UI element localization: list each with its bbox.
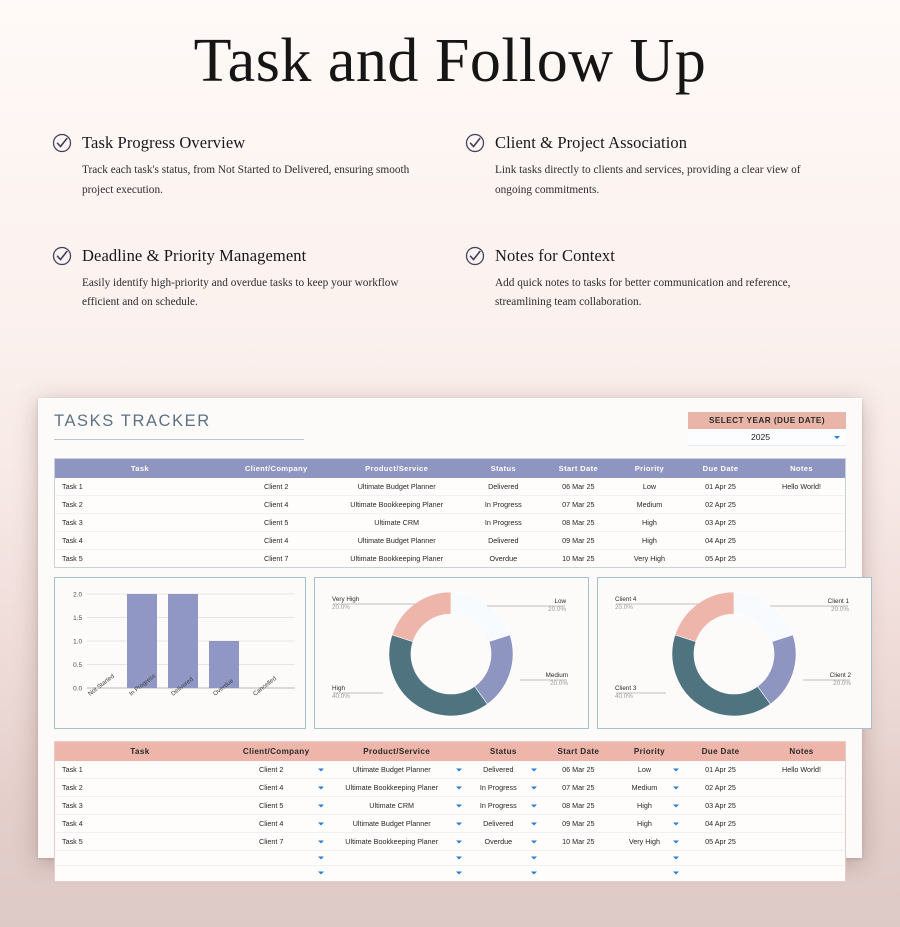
cell-product-dropdown[interactable]: Ultimate Bookkeeping Planer <box>328 779 466 797</box>
cell-due-date[interactable]: 05 Apr 25 <box>683 833 758 851</box>
cell-notes[interactable] <box>758 797 845 815</box>
cell-task: Task 1 <box>55 478 225 496</box>
y-tick-label: 2.0 <box>73 591 82 598</box>
chevron-down-icon[interactable] <box>530 819 539 828</box>
cell-priority-dropdown[interactable]: Medium <box>616 779 683 797</box>
cell-status: Overdue <box>466 550 541 568</box>
cell-client-dropdown[interactable]: Client 4 <box>225 779 328 797</box>
chevron-down-icon[interactable] <box>455 765 464 774</box>
cell-product: Ultimate Budget Planner <box>328 532 466 550</box>
cell-client-dropdown[interactable]: Client 4 <box>225 815 328 833</box>
cell-notes: Hello World! <box>758 478 845 496</box>
cell-priority: High <box>616 514 683 532</box>
chevron-down-icon[interactable] <box>530 801 539 810</box>
feature-deadline-priority-management: Deadline & Priority Management Easily id… <box>52 246 435 313</box>
cell-client: Client 7 <box>225 550 328 568</box>
column-header-client: Client/Company <box>225 459 328 478</box>
column-header-priority: Priority <box>616 459 683 478</box>
cell-priority-dropdown[interactable]: High <box>616 797 683 815</box>
column-header-task: Task <box>55 742 225 761</box>
cell-notes <box>758 496 845 514</box>
cell-due-date: 05 Apr 25 <box>683 550 758 568</box>
y-tick-label: 1.5 <box>73 615 82 622</box>
cell-client: Client 4 <box>225 532 328 550</box>
cell-product-value: Ultimate CRM <box>369 801 414 810</box>
cell-client-dropdown[interactable] <box>225 866 328 881</box>
column-header-status: Status <box>466 742 541 761</box>
chevron-down-icon[interactable] <box>833 433 842 442</box>
feature-notes-for-context: Notes for Context Add quick notes to tas… <box>465 246 848 313</box>
cell-task: Task 5 <box>55 550 225 568</box>
chevron-down-icon[interactable] <box>455 783 464 792</box>
column-header-start-date: Start Date <box>541 459 616 478</box>
cell-task[interactable]: Task 5 <box>55 833 225 851</box>
cell-notes[interactable] <box>758 815 845 833</box>
chevron-down-icon[interactable] <box>672 837 681 846</box>
chevron-down-icon[interactable] <box>530 869 539 878</box>
bar-delivered <box>168 594 198 688</box>
cell-task[interactable] <box>55 851 225 866</box>
cell-priority: Very High <box>616 550 683 568</box>
cell-start-date[interactable]: 08 Mar 25 <box>541 797 616 815</box>
cell-start-date[interactable] <box>541 851 616 866</box>
chevron-down-icon[interactable] <box>317 819 326 828</box>
feature-title: Deadline & Priority Management <box>82 246 306 266</box>
slice-client-1 <box>734 592 793 642</box>
cell-status: Delivered <box>466 478 541 496</box>
chevron-down-icon[interactable] <box>455 869 464 878</box>
cell-task[interactable]: Task 1 <box>55 761 225 779</box>
donut-value-client-3: 40.0% <box>615 693 633 700</box>
cell-notes <box>758 514 845 532</box>
donut-label-medium: Medium <box>546 672 568 679</box>
cell-client-dropdown[interactable]: Client 7 <box>225 833 328 851</box>
cell-priority-dropdown[interactable]: Low <box>616 761 683 779</box>
check-circle-icon <box>52 246 72 266</box>
cell-due-date: 04 Apr 25 <box>683 532 758 550</box>
donut-value-low: 20.0% <box>548 606 566 613</box>
slice-client-3 <box>672 635 770 716</box>
check-circle-icon <box>465 246 485 266</box>
cell-priority-value: Low <box>638 765 651 774</box>
chevron-down-icon[interactable] <box>455 854 464 863</box>
cell-priority-value: High <box>637 819 652 828</box>
column-header-status: Status <box>466 459 541 478</box>
chevron-down-icon[interactable] <box>317 801 326 810</box>
cell-client-value: Client 2 <box>259 765 283 774</box>
table-row-empty[interactable] <box>55 851 845 866</box>
chevron-down-icon[interactable] <box>672 765 681 774</box>
cell-status-dropdown[interactable]: Delivered <box>466 815 541 833</box>
cell-notes[interactable]: Hello World! <box>758 761 845 779</box>
cell-client-value: Client 4 <box>259 783 283 792</box>
cell-due-date: 02 Apr 25 <box>683 496 758 514</box>
cell-task[interactable]: Task 3 <box>55 797 225 815</box>
y-tick-label: 0.0 <box>73 685 82 692</box>
donut-label-client-4: Client 4 <box>615 596 637 603</box>
chevron-down-icon[interactable] <box>317 837 326 846</box>
cell-priority-value: Very High <box>629 837 660 846</box>
chevron-down-icon[interactable] <box>317 869 326 878</box>
cell-status-value: Overdue <box>485 837 513 846</box>
chevron-down-icon[interactable] <box>317 765 326 774</box>
cell-notes <box>758 532 845 550</box>
cell-start-date[interactable]: 07 Mar 25 <box>541 779 616 797</box>
x-tick-label: Cancelled <box>252 675 278 698</box>
feature-title: Client & Project Association <box>495 133 687 153</box>
cell-task: Task 3 <box>55 514 225 532</box>
cell-due-date: 03 Apr 25 <box>683 514 758 532</box>
cell-client-value: Client 5 <box>259 801 283 810</box>
cell-priority-dropdown[interactable] <box>616 866 683 881</box>
cell-product: Ultimate CRM <box>328 514 466 532</box>
cell-product-dropdown[interactable]: Ultimate Budget Planner <box>328 761 466 779</box>
table-row: Task 2 Client 4 Ultimate Bookkeeping Pla… <box>55 496 845 514</box>
slice-low <box>451 592 510 642</box>
slice-high <box>389 635 487 716</box>
cell-status-value: In Progress <box>480 801 517 810</box>
column-header-priority: Priority <box>616 742 683 761</box>
spreadsheet-panel: TASKS TRACKER SELECT YEAR (DUE DATE) 202… <box>38 398 862 858</box>
chevron-down-icon[interactable] <box>530 854 539 863</box>
cell-start-date[interactable]: 10 Mar 25 <box>541 833 616 851</box>
table-row[interactable]: Task 3 Client 5 Ultimate CRM In Progress… <box>55 797 845 815</box>
cell-status-dropdown[interactable] <box>466 851 541 866</box>
table-row: Task 5 Client 7 Ultimate Bookkeeping Pla… <box>55 550 845 568</box>
chevron-down-icon[interactable] <box>672 801 681 810</box>
cell-status: In Progress <box>466 496 541 514</box>
chevron-down-icon[interactable] <box>672 819 681 828</box>
cell-client: Client 2 <box>225 478 328 496</box>
cell-product-dropdown[interactable] <box>328 866 466 881</box>
cell-due-date[interactable]: 01 Apr 25 <box>683 761 758 779</box>
bar-overdue <box>209 641 239 688</box>
chevron-down-icon[interactable] <box>455 801 464 810</box>
feature-task-progress-overview: Task Progress Overview Track each task's… <box>52 133 435 200</box>
donut-value-client-1: 20.0% <box>831 606 849 613</box>
cell-notes[interactable] <box>758 851 845 866</box>
cell-due-date[interactable]: 02 Apr 25 <box>683 779 758 797</box>
donut-label-very-high: Very High <box>332 596 360 603</box>
bar-chart-svg: 0.0 0.5 1.0 1.5 2.0 Not Started In Progr… <box>55 578 305 728</box>
year-selector-label: SELECT YEAR (DUE DATE) <box>688 412 846 429</box>
cell-product-dropdown[interactable]: Ultimate Bookkeeping Planer <box>328 833 466 851</box>
feature-heading: Notes for Context <box>465 246 848 266</box>
table-row[interactable]: Task 2 Client 4 Ultimate Bookkeeping Pla… <box>55 779 845 797</box>
donut-value-client-2: 20.0% <box>833 680 851 687</box>
feature-description: Link tasks directly to clients and servi… <box>495 161 840 200</box>
column-header-product: Product/Service <box>328 459 466 478</box>
cell-product: Ultimate Budget Planner <box>328 478 466 496</box>
page-title: Task and Follow Up <box>0 27 900 95</box>
cell-due-date[interactable]: 03 Apr 25 <box>683 797 758 815</box>
column-header-notes: Notes <box>758 459 845 478</box>
cell-start-date: 07 Mar 25 <box>541 496 616 514</box>
cell-priority-dropdown[interactable]: High <box>616 815 683 833</box>
chevron-down-icon[interactable] <box>317 854 326 863</box>
client-donut-chart: Client 1 20.0% Client 2 20.0% Client 3 4… <box>597 577 872 729</box>
chevron-down-icon[interactable] <box>672 783 681 792</box>
cell-due-date: 01 Apr 25 <box>683 478 758 496</box>
cell-priority-dropdown[interactable]: Very High <box>616 833 683 851</box>
cell-product-dropdown[interactable]: Ultimate CRM <box>328 797 466 815</box>
column-header-due-date: Due Date <box>683 459 758 478</box>
cell-due-date[interactable] <box>683 866 758 881</box>
feature-title: Notes for Context <box>495 246 615 266</box>
column-header-client: Client/Company <box>225 742 328 761</box>
cell-product-value: Ultimate Budget Planner <box>353 819 431 828</box>
cell-task[interactable]: Task 4 <box>55 815 225 833</box>
cell-task[interactable]: Task 2 <box>55 779 225 797</box>
chevron-down-icon[interactable] <box>530 783 539 792</box>
donut-chart-svg: Low 20.0% Medium 20.0% High 40.0% Very H… <box>315 578 588 728</box>
cell-start-date: 06 Mar 25 <box>541 478 616 496</box>
table-row: Task 4 Client 4 Ultimate Budget Planner … <box>55 532 845 550</box>
feature-heading: Client & Project Association <box>465 133 848 153</box>
donut-value-very-high: 20.0% <box>332 604 350 611</box>
slice-client-4 <box>675 592 734 642</box>
feature-heading: Deadline & Priority Management <box>52 246 435 266</box>
cell-product: Ultimate Bookkeeping Planer <box>328 550 466 568</box>
chevron-down-icon[interactable] <box>455 819 464 828</box>
chevron-down-icon[interactable] <box>530 765 539 774</box>
cell-due-date[interactable] <box>683 851 758 866</box>
feature-client-project-association: Client & Project Association Link tasks … <box>465 133 848 200</box>
cell-priority-value: Medium <box>632 783 658 792</box>
cell-start-date[interactable]: 06 Mar 25 <box>541 761 616 779</box>
cell-task: Task 2 <box>55 496 225 514</box>
cell-client: Client 4 <box>225 496 328 514</box>
cell-priority-dropdown[interactable] <box>616 851 683 866</box>
column-header-start-date: Start Date <box>541 742 616 761</box>
cell-product-value: Ultimate Bookkeeping Planer <box>345 783 438 792</box>
feature-description: Easily identify high-priority and overdu… <box>82 274 412 313</box>
cell-product-dropdown[interactable]: Ultimate Budget Planner <box>328 815 466 833</box>
cell-task: Task 4 <box>55 532 225 550</box>
feature-grid: Task Progress Overview Track each task's… <box>52 133 848 313</box>
feature-description: Add quick notes to tasks for better comm… <box>495 274 840 313</box>
cell-product: Ultimate Bookkeeping Planer <box>328 496 466 514</box>
slice-medium <box>475 635 513 704</box>
donut-chart-svg: Client 1 20.0% Client 2 20.0% Client 3 4… <box>598 578 871 728</box>
title-divider <box>54 439 304 440</box>
chevron-down-icon[interactable] <box>455 837 464 846</box>
bar-series <box>127 594 239 688</box>
table-row[interactable]: Task 5 Client 7 Ultimate Bookkeeping Pla… <box>55 833 845 851</box>
y-tick-label: 0.5 <box>73 662 82 669</box>
cell-status-value: Delivered <box>483 819 513 828</box>
cell-client: Client 5 <box>225 514 328 532</box>
year-selector-control[interactable]: 2025 <box>688 429 846 446</box>
slice-client-2 <box>758 635 796 704</box>
year-selector-value: 2025 <box>688 432 833 442</box>
cell-status: Delivered <box>466 532 541 550</box>
cell-priority: High <box>616 532 683 550</box>
donut-label-high: High <box>332 685 345 692</box>
y-tick-label: 1.0 <box>73 638 82 645</box>
check-circle-icon <box>465 133 485 153</box>
feature-description: Track each task's status, from Not Start… <box>82 161 412 200</box>
donut-value-high: 40.0% <box>332 693 350 700</box>
column-header-notes: Notes <box>758 742 845 761</box>
table-row[interactable]: Task 1 Client 2 Ultimate Budget Planner … <box>55 761 845 779</box>
donut-label-low: Low <box>554 598 566 605</box>
cell-status-dropdown[interactable] <box>466 866 541 881</box>
donut-label-client-1: Client 1 <box>828 598 850 605</box>
cell-status-dropdown[interactable]: Delivered <box>466 761 541 779</box>
tasks-entry-table[interactable]: Task Client/Company Product/Service Stat… <box>54 741 846 882</box>
cell-notes[interactable] <box>758 833 845 851</box>
cell-client-value: Client 4 <box>259 819 283 828</box>
table-row[interactable]: Task 4 Client 4 Ultimate Budget Planner … <box>55 815 845 833</box>
table-header-row: Task Client/Company Product/Service Stat… <box>55 742 845 761</box>
cell-status-dropdown[interactable]: Overdue <box>466 833 541 851</box>
cell-due-date[interactable]: 04 Apr 25 <box>683 815 758 833</box>
cell-client-dropdown[interactable]: Client 5 <box>225 797 328 815</box>
column-header-due-date: Due Date <box>683 742 758 761</box>
year-selector[interactable]: SELECT YEAR (DUE DATE) 2025 <box>688 412 846 446</box>
tasks-summary-table: Task Client/Company Product/Service Stat… <box>54 458 846 568</box>
column-header-task: Task <box>55 459 225 478</box>
cell-status-dropdown[interactable]: In Progress <box>466 779 541 797</box>
spreadsheet-title-block: TASKS TRACKER <box>54 412 304 440</box>
cell-status-dropdown[interactable]: In Progress <box>466 797 541 815</box>
x-tick-label: Not Started <box>87 672 116 697</box>
cell-start-date[interactable] <box>541 866 616 881</box>
cell-status-value: Delivered <box>483 765 513 774</box>
cell-status-value: In Progress <box>480 783 517 792</box>
table-row: Task 3 Client 5 Ultimate CRM In Progress… <box>55 514 845 532</box>
table-row-empty[interactable] <box>55 866 845 881</box>
cell-start-date: 08 Mar 25 <box>541 514 616 532</box>
donut-label-client-3: Client 3 <box>615 685 637 692</box>
cell-start-date[interactable]: 09 Mar 25 <box>541 815 616 833</box>
priority-donut-chart: Low 20.0% Medium 20.0% High 40.0% Very H… <box>314 577 589 729</box>
table-row: Task 1 Client 2 Ultimate Budget Planner … <box>55 478 845 496</box>
status-bar-chart: 0.0 0.5 1.0 1.5 2.0 Not Started In Progr… <box>54 577 306 729</box>
chevron-down-icon[interactable] <box>672 869 681 878</box>
spreadsheet-toolbar: TASKS TRACKER SELECT YEAR (DUE DATE) 202… <box>54 412 846 446</box>
cell-priority: Medium <box>616 496 683 514</box>
cell-priority-value: High <box>637 801 652 810</box>
chevron-down-icon[interactable] <box>317 783 326 792</box>
charts-row: 0.0 0.5 1.0 1.5 2.0 Not Started In Progr… <box>54 577 846 729</box>
cell-start-date: 10 Mar 25 <box>541 550 616 568</box>
cell-priority: Low <box>616 478 683 496</box>
feature-title: Task Progress Overview <box>82 133 245 153</box>
cell-client-dropdown[interactable]: Client 2 <box>225 761 328 779</box>
cell-product-dropdown[interactable] <box>328 851 466 866</box>
column-header-product: Product/Service <box>328 742 466 761</box>
spreadsheet-title: TASKS TRACKER <box>54 412 304 439</box>
cell-notes <box>758 550 845 568</box>
cell-product-value: Ultimate Bookkeeping Planer <box>345 837 438 846</box>
check-circle-icon <box>52 133 72 153</box>
table-header-row: Task Client/Company Product/Service Stat… <box>55 459 845 478</box>
cell-client-value: Client 7 <box>259 837 283 846</box>
donut-value-medium: 20.0% <box>550 680 568 687</box>
slice-very-high <box>392 592 451 642</box>
donut-value-client-4: 20.0% <box>615 604 633 611</box>
cell-notes[interactable] <box>758 866 845 881</box>
chevron-down-icon[interactable] <box>530 837 539 846</box>
cell-task[interactable] <box>55 866 225 881</box>
donut-label-client-2: Client 2 <box>830 672 852 679</box>
feature-heading: Task Progress Overview <box>52 133 435 153</box>
cell-product-value: Ultimate Budget Planner <box>353 765 431 774</box>
cell-notes[interactable] <box>758 779 845 797</box>
cell-client-dropdown[interactable] <box>225 851 328 866</box>
cell-status: In Progress <box>466 514 541 532</box>
chevron-down-icon[interactable] <box>672 854 681 863</box>
cell-start-date: 09 Mar 25 <box>541 532 616 550</box>
